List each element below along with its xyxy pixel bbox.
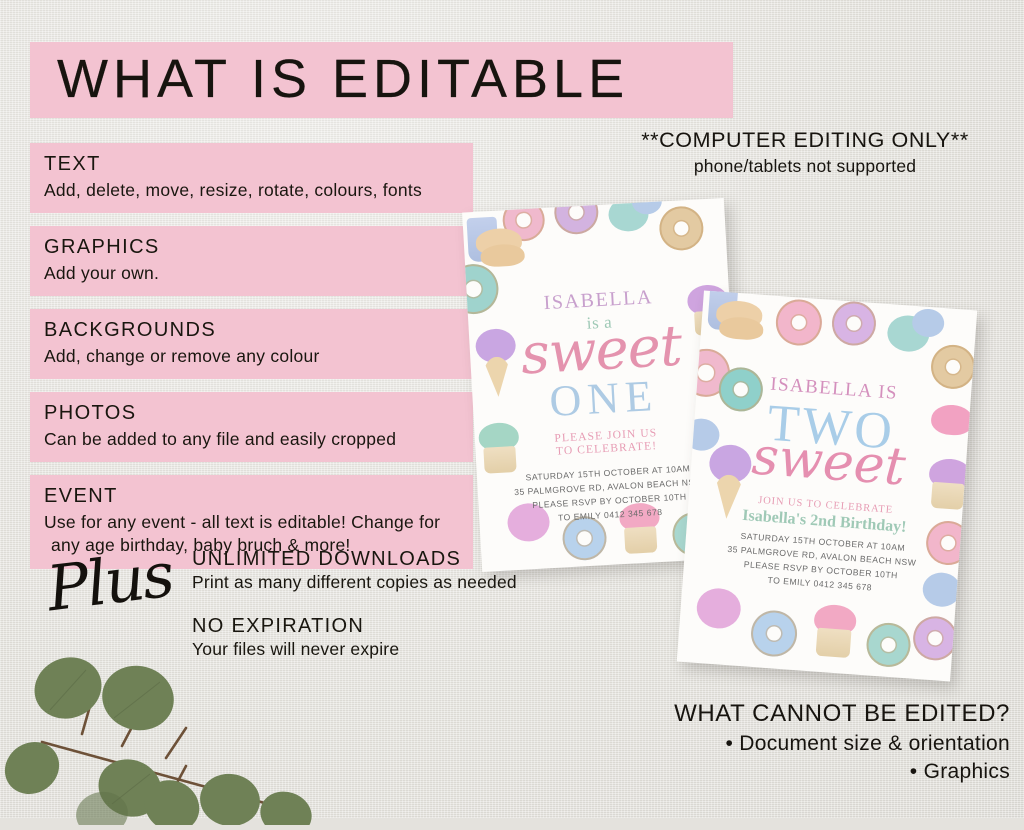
feature-title: TEXT xyxy=(44,152,473,177)
feature-desc: Add your own. xyxy=(44,262,473,285)
cannot-edit-item: • Document size & orientation xyxy=(590,732,1010,756)
cupcake-icon xyxy=(816,628,852,658)
cannot-be-edited-block: WHAT CANNOT BE EDITED? • Document size &… xyxy=(590,700,1010,784)
feature-block-backgrounds: BACKGROUNDS Add, change or remove any co… xyxy=(30,309,473,379)
card-two-artwork: ISABELLA IS TWO sweet JOIN US TO CELEBRA… xyxy=(677,290,978,681)
cannot-edit-item: • Graphics xyxy=(590,760,1010,784)
leaf xyxy=(95,658,180,738)
feature-title: BACKGROUNDS xyxy=(44,318,473,343)
donut-icon xyxy=(774,298,823,347)
feature-title: PHOTOS xyxy=(44,401,473,426)
feature-desc: Add, change or remove any colour xyxy=(44,345,473,368)
eucalyptus-decoration xyxy=(0,600,320,825)
leaf xyxy=(25,647,111,728)
feature-desc: Use for any event - all text is editable… xyxy=(44,511,473,534)
feature-block-photos: PHOTOS Can be added to any file and easi… xyxy=(30,392,473,462)
feature-block-graphics: GRAPHICS Add your own. xyxy=(30,226,473,296)
leaf xyxy=(0,732,69,805)
donut-icon xyxy=(553,198,599,235)
leaf xyxy=(254,785,317,825)
leaf xyxy=(197,770,264,825)
cupcake-icon xyxy=(624,526,657,554)
computer-note-main: **COMPUTER EDITING ONLY** xyxy=(598,128,1012,153)
header-banner: WHAT IS EDITABLE xyxy=(30,42,733,118)
feature-desc: Add, delete, move, resize, rotate, colou… xyxy=(44,179,473,202)
ice-cream-icon xyxy=(695,587,742,630)
cannot-edit-title: WHAT CANNOT BE EDITED? xyxy=(590,700,1010,728)
donut-icon xyxy=(930,343,977,390)
page-title: WHAT IS EDITABLE xyxy=(57,48,629,110)
donut-icon xyxy=(865,621,912,668)
computer-editing-note: **COMPUTER EDITING ONLY** phone/tablets … xyxy=(598,128,1012,177)
feature-desc: Can be added to any file and easily crop… xyxy=(44,428,473,451)
eucalyptus-svg xyxy=(0,600,320,825)
donut-icon xyxy=(658,205,704,251)
plus-item-desc: Print as many different copies as needed xyxy=(192,572,542,593)
donut-icon xyxy=(749,609,798,658)
donut-icon xyxy=(830,300,877,347)
croissant-icon xyxy=(480,243,525,267)
donut-icon xyxy=(912,615,959,662)
invitation-card-two-sweet: ISABELLA IS TWO sweet JOIN US TO CELEBRA… xyxy=(677,290,978,681)
computer-note-sub: phone/tablets not supported xyxy=(598,156,1012,177)
feature-block-text: TEXT Add, delete, move, resize, rotate, … xyxy=(30,143,473,213)
feature-list: TEXT Add, delete, move, resize, rotate, … xyxy=(30,143,473,582)
feature-title: GRAPHICS xyxy=(44,235,473,260)
feature-title: EVENT xyxy=(44,484,473,509)
